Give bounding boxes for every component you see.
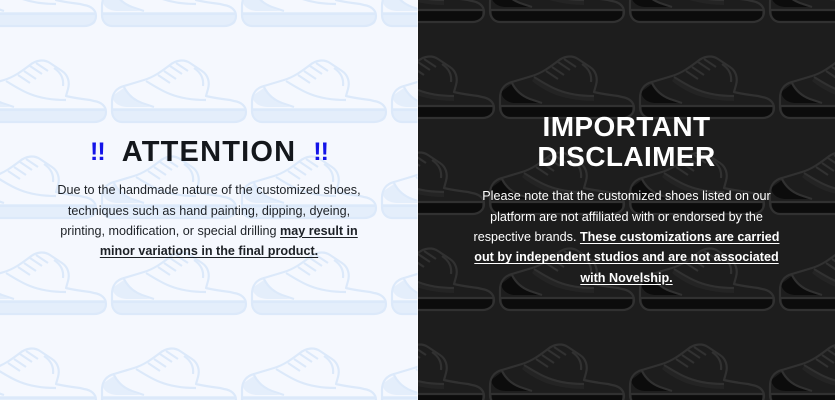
- attention-heading: !! ATTENTION !!: [90, 138, 328, 167]
- double-exclamation-left-icon: !!: [90, 140, 105, 165]
- panel-divider: [417, 0, 418, 400]
- attention-body-text: Due to the handmade nature of the custom…: [44, 180, 374, 262]
- attention-content: !! ATTENTION !! Due to the handmade natu…: [0, 0, 418, 400]
- double-exclamation-right-icon: !!: [313, 140, 328, 165]
- attention-panel: !! ATTENTION !! Due to the handmade natu…: [0, 0, 418, 400]
- disclaimer-content: IMPORTANTDISCLAIMER Please note that the…: [418, 0, 835, 400]
- disclaimer-panel: IMPORTANTDISCLAIMER Please note that the…: [418, 0, 835, 400]
- attention-title: ATTENTION: [122, 138, 297, 167]
- disclaimer-heading-line1: IMPORTANT: [543, 111, 711, 142]
- customization-notice-banner: !! ATTENTION !! Due to the handmade natu…: [0, 0, 835, 400]
- disclaimer-heading: IMPORTANTDISCLAIMER: [537, 112, 715, 171]
- disclaimer-body-text: Please note that the customized shoes li…: [467, 186, 787, 288]
- disclaimer-heading-line2: DISCLAIMER: [537, 142, 715, 172]
